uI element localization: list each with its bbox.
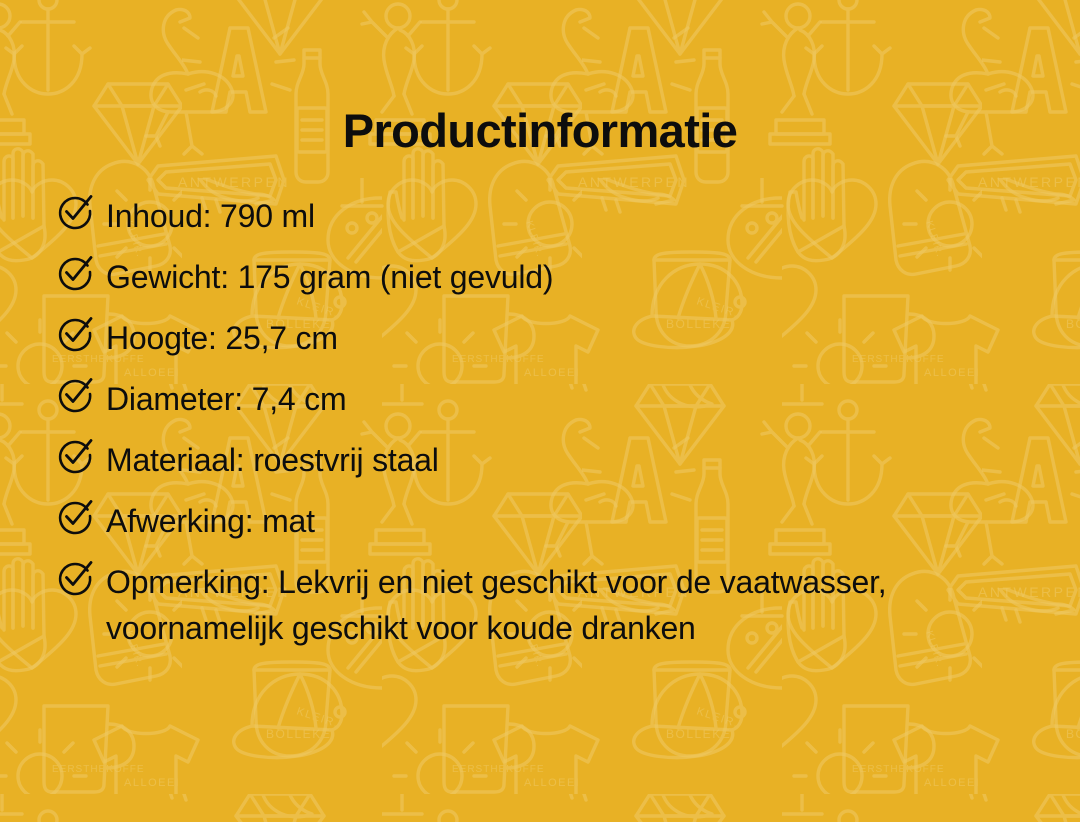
list-item-label: Inhoud: 790 ml (106, 193, 315, 239)
check-circle-icon (58, 560, 92, 594)
list-item: Inhoud: 790 ml (58, 193, 1018, 239)
list-item: Materiaal: roestvrij staal (58, 437, 1018, 483)
list-item: Diameter: 7,4 cm (58, 376, 1018, 422)
page-title: Productinformatie (0, 105, 1080, 157)
check-circle-icon (58, 255, 92, 289)
check-circle-icon (58, 194, 92, 228)
product-info-slide: KLEIR. EERSTHEKOFFE ALLOEEI (0, 0, 1080, 822)
check-circle-icon (58, 377, 92, 411)
list-item-label: Afwerking: mat (106, 498, 315, 544)
check-circle-icon (58, 438, 92, 472)
check-circle-icon (58, 316, 92, 350)
list-item-label: Gewicht: 175 gram (niet gevuld) (106, 254, 553, 300)
check-circle-icon (58, 499, 92, 533)
list-item-label: Hoogte: 25,7 cm (106, 315, 338, 361)
list-item-label: Diameter: 7,4 cm (106, 376, 346, 422)
product-spec-list: Inhoud: 790 ml Gewicht: 175 gram (niet g… (58, 193, 1018, 666)
list-item-label: Materiaal: roestvrij staal (106, 437, 439, 483)
list-item-label: Opmerking: Lekvrij en niet geschikt voor… (106, 559, 906, 651)
list-item: Hoogte: 25,7 cm (58, 315, 1018, 361)
list-item: Gewicht: 175 gram (niet gevuld) (58, 254, 1018, 300)
list-item: Opmerking: Lekvrij en niet geschikt voor… (58, 559, 1018, 651)
list-item: Afwerking: mat (58, 498, 1018, 544)
